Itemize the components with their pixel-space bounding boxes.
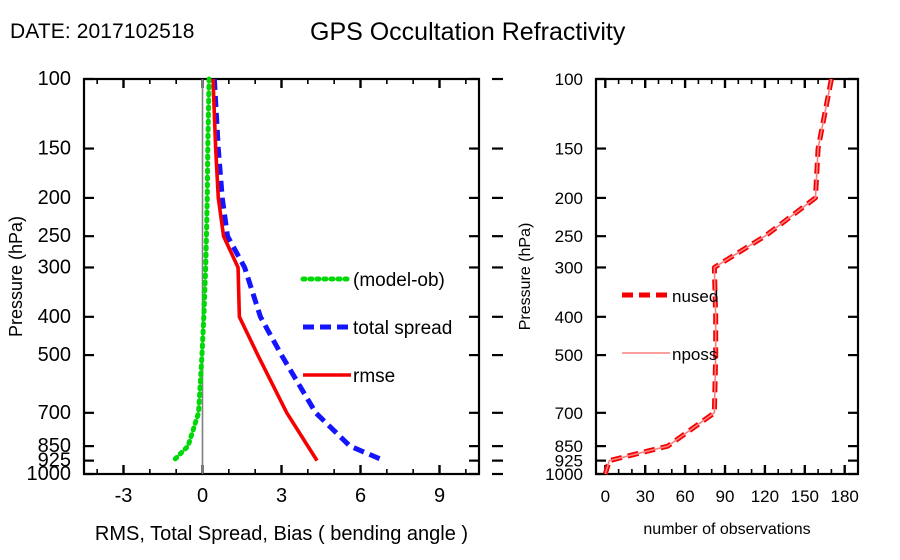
legend-label: nposs <box>672 345 717 364</box>
y-tick-label: 700 <box>555 404 583 423</box>
x-tick-label: 6 <box>355 485 366 507</box>
legend: nusednposs <box>622 287 718 364</box>
y-axis-title: Pressure (hPa) <box>517 223 534 331</box>
x-tick-label: 150 <box>791 487 819 506</box>
x-tick-label: 0 <box>197 485 208 507</box>
y-tick-label: 150 <box>38 138 71 160</box>
x-axis-title: number of observations <box>643 521 810 538</box>
y-tick-label: 150 <box>555 140 583 159</box>
x-tick-label: -3 <box>115 485 133 507</box>
y-tick-label: 1000 <box>27 463 72 485</box>
legend: (model-ob)total spreadrmse <box>303 270 452 387</box>
x-tick-label: 9 <box>434 485 445 507</box>
y-tick-label: 300 <box>555 258 583 277</box>
y-tick-label: 500 <box>555 346 583 365</box>
legend-label: total spread <box>353 318 452 339</box>
y-tick-label: 100 <box>38 68 71 90</box>
x-tick-label: 90 <box>716 487 735 506</box>
left-plot-svg: -303691001502002503004005007008509251000… <box>0 0 500 560</box>
series-line <box>174 79 210 461</box>
y-tick-label: 700 <box>38 402 71 424</box>
y-tick-label: 400 <box>555 308 583 327</box>
legend-label: nused <box>672 287 718 306</box>
x-axis-title: RMS, Total Spread, Bias ( bending angle … <box>95 523 468 545</box>
right-plot-svg: 0306090120150180100150200250300400500700… <box>500 0 900 560</box>
series-line <box>605 79 831 474</box>
legend-label: (model-ob) <box>353 270 445 291</box>
y-tick-label: 500 <box>38 344 71 366</box>
series-line <box>605 79 831 474</box>
left-plot-panel: -303691001502002503004005007008509251000… <box>0 0 500 560</box>
y-axis-title: Pressure (hPa) <box>6 216 26 337</box>
y-tick-label: 200 <box>555 189 583 208</box>
y-tick-label: 300 <box>38 256 71 278</box>
y-tick-label: 100 <box>555 70 583 89</box>
y-tick-label: 1000 <box>545 465 583 484</box>
x-tick-label: 3 <box>276 485 287 507</box>
series-line <box>213 79 317 461</box>
x-tick-label: 180 <box>831 487 859 506</box>
y-tick-label: 200 <box>38 187 71 209</box>
x-tick-label: 120 <box>751 487 779 506</box>
x-tick-label: 60 <box>676 487 695 506</box>
y-tick-label: 400 <box>38 306 71 328</box>
x-tick-label: 0 <box>601 487 610 506</box>
x-tick-label: 30 <box>636 487 655 506</box>
right-plot-panel: 0306090120150180100150200250300400500700… <box>500 0 900 560</box>
y-tick-label: 250 <box>555 227 583 246</box>
y-tick-label: 250 <box>38 225 71 247</box>
figure-root: DATE: 2017102518 GPS Occultation Refract… <box>0 0 900 560</box>
legend-label: rmse <box>353 366 395 387</box>
